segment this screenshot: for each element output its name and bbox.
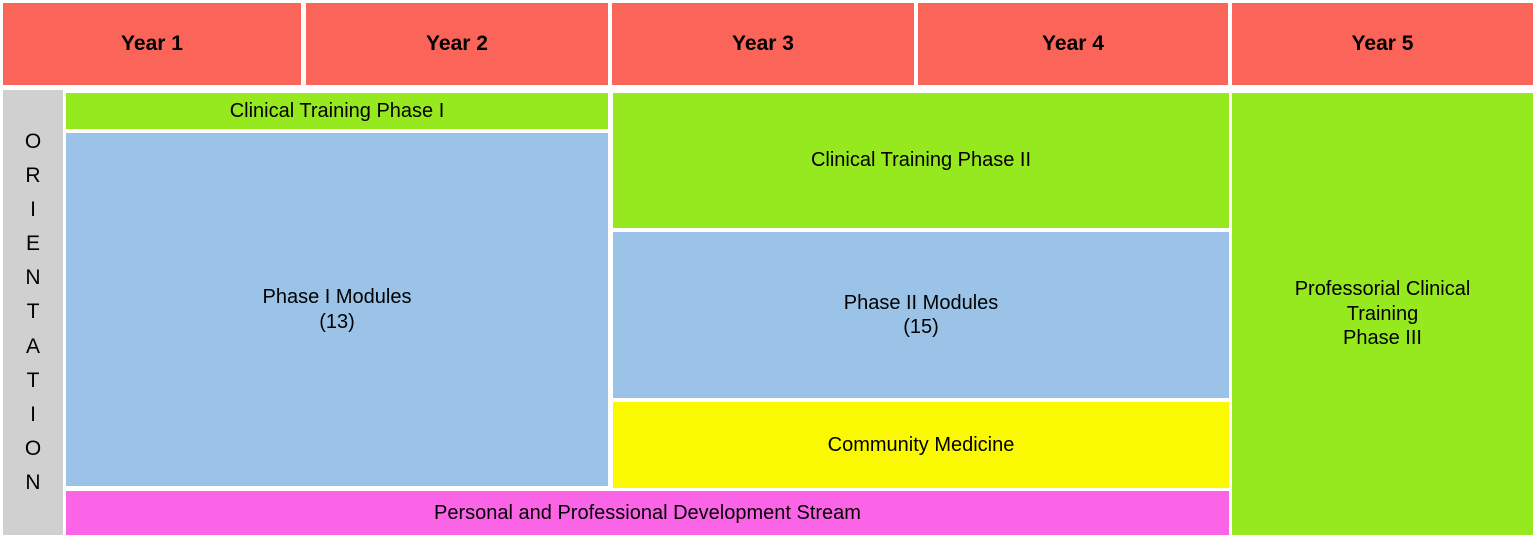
block-professorial-clinical-training-phase-3: Professorial Clinical Training Phase III: [1232, 93, 1533, 535]
orientation-letter: N: [25, 466, 40, 500]
block-phase-2-modules: Phase II Modules (15): [613, 232, 1229, 398]
year-header-label: Year 3: [732, 31, 794, 57]
orientation-letter: O: [25, 125, 41, 159]
orientation-letter: I: [30, 193, 36, 227]
block-label: Clinical Training Phase II: [811, 148, 1031, 172]
orientation-letter: O: [25, 432, 41, 466]
block-phase-1-modules: Phase I Modules (13): [66, 133, 608, 486]
orientation-letter: T: [27, 364, 40, 398]
orientation-letter: N: [25, 261, 40, 295]
year-header-year-1: Year 1: [3, 3, 301, 85]
block-label: Phase II Modules (15): [844, 291, 999, 340]
orientation-column: O R I E N T A T I O N: [3, 90, 63, 535]
orientation-letter: A: [26, 330, 40, 364]
orientation-letter: T: [27, 295, 40, 329]
block-clinical-training-phase-2: Clinical Training Phase II: [613, 93, 1229, 228]
year-header-label: Year 5: [1352, 31, 1414, 57]
block-label: Community Medicine: [828, 433, 1015, 457]
year-header-label: Year 4: [1042, 31, 1104, 57]
orientation-letter: E: [26, 227, 40, 261]
year-header-year-3: Year 3: [612, 3, 914, 85]
orientation-letter: R: [25, 159, 40, 193]
block-label: Clinical Training Phase I: [230, 99, 445, 123]
year-header-year-4: Year 4: [918, 3, 1228, 85]
year-header-year-2: Year 2: [306, 3, 608, 85]
block-label: Professorial Clinical Training Phase III: [1295, 277, 1471, 350]
curriculum-diagram: Year 1 Year 2 Year 3 Year 4 Year 5 O R I…: [0, 0, 1536, 538]
year-header-label: Year 1: [121, 31, 183, 57]
block-clinical-training-phase-1: Clinical Training Phase I: [66, 93, 608, 129]
block-label: Personal and Professional Development St…: [434, 501, 861, 525]
block-personal-professional-development: Personal and Professional Development St…: [66, 491, 1229, 535]
orientation-letter: I: [30, 398, 36, 432]
year-header-label: Year 2: [426, 31, 488, 57]
block-label: Phase I Modules (13): [263, 285, 412, 334]
block-community-medicine: Community Medicine: [613, 402, 1229, 488]
year-header-year-5: Year 5: [1232, 3, 1533, 85]
